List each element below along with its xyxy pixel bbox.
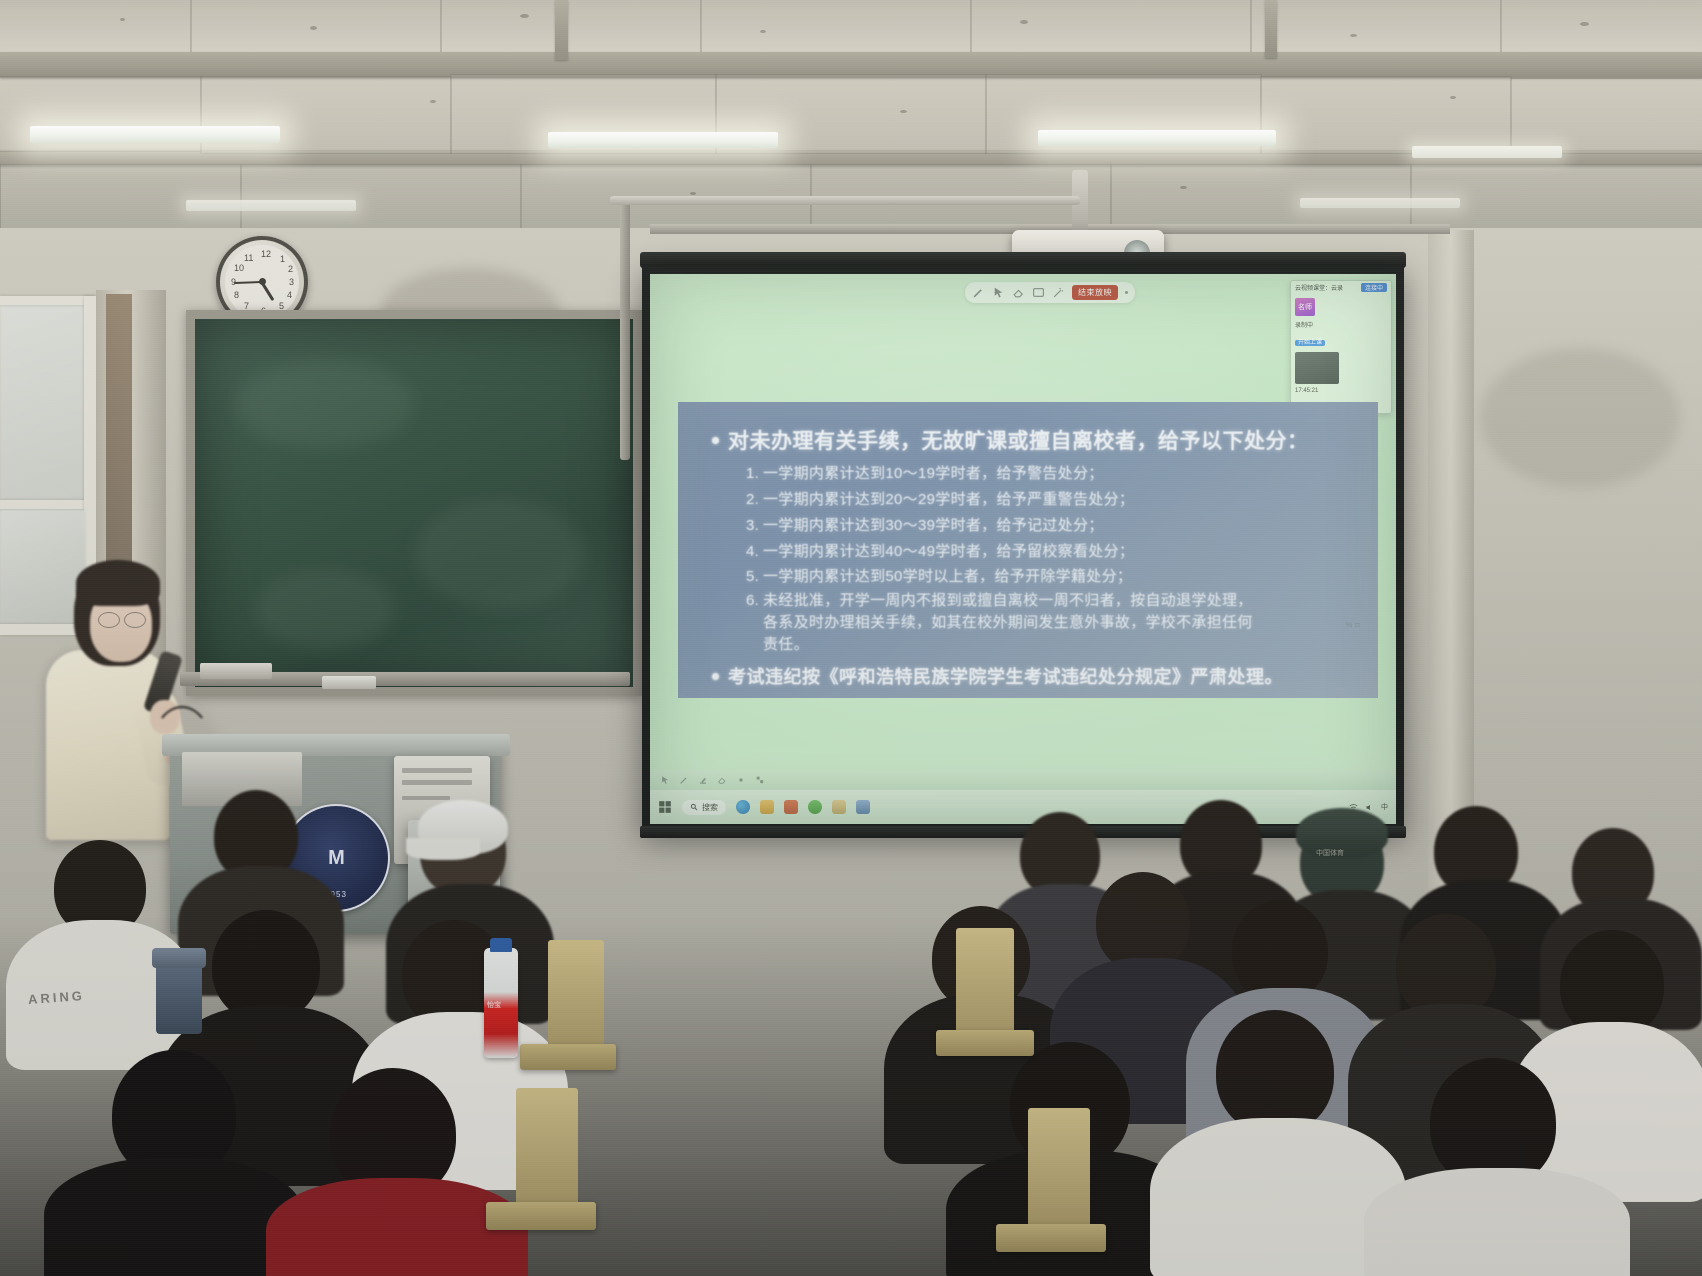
search-icon <box>690 803 698 811</box>
panel-tiles: 名师 <box>1291 294 1391 320</box>
bottle-cap <box>490 938 512 952</box>
clock-minute-hand <box>234 281 262 284</box>
lecture-hall-photo: 12 3 6 9 1 2 4 5 7 8 10 11 <box>0 0 1702 1276</box>
chair-back <box>548 940 604 1058</box>
list-item-continuation: 责任。 <box>763 634 1356 656</box>
eyeglasses-icon <box>98 612 120 628</box>
end-show-button[interactable]: 结束放映 <box>1072 285 1118 300</box>
panel-titlebar: 云视频课堂：云录 连接中 <box>1291 281 1391 294</box>
bullet-dot-icon <box>712 673 719 680</box>
explorer-icon[interactable] <box>760 800 774 814</box>
chair-seat <box>486 1202 596 1230</box>
folder-icon[interactable] <box>832 800 846 814</box>
list-index: 4. <box>746 539 763 565</box>
more-options-icon[interactable] <box>1125 291 1128 294</box>
list-index: 5. <box>746 564 763 590</box>
jacket-logo-text: 中国体育 <box>1316 848 1344 858</box>
student-shoulders <box>1364 1168 1630 1276</box>
ime-icon[interactable]: 中 <box>1381 802 1388 812</box>
bullet-dot-icon <box>712 437 719 444</box>
slide-bullet-text: 对未办理有关手续，无故旷课或擅自离校者，给予以下处分： <box>728 428 1309 455</box>
start-class-badge[interactable]: 开始上课 <box>1295 340 1325 346</box>
list-text: 一学期内累计达到20～29学时者，给予严重警告处分； <box>763 491 1134 508</box>
list-item: 5.一学期内累计达到50学时以上者，给予开除学籍处分； <box>746 564 1356 590</box>
thermos-lid <box>152 948 206 968</box>
chair-back <box>1028 1108 1090 1242</box>
list-index: 2. <box>746 487 763 513</box>
list-item: 6.未经批准，开学一周内不报到或擅自离校一周不归者，按自动退学处理， <box>746 590 1356 612</box>
powerpoint-icon[interactable] <box>784 800 798 814</box>
window-glass <box>0 510 86 622</box>
volume-icon[interactable] <box>1365 803 1374 812</box>
thermos-cup <box>156 962 202 1034</box>
list-text: 未经批准，开学一周内不报到或擅自离校一周不归者，按自动退学处理， <box>763 592 1253 609</box>
list-item: 3.一学期内累计达到30～39学时者，给予记过处分； <box>746 513 1356 539</box>
magic-icon[interactable] <box>1052 286 1065 299</box>
eyeglasses-icon <box>124 612 146 628</box>
eraser-icon[interactable] <box>1012 286 1025 299</box>
taskbar-search[interactable]: 搜索 <box>682 800 726 815</box>
cursor-icon[interactable] <box>660 775 670 785</box>
panel-status-label: 录制中 <box>1291 320 1391 331</box>
panel-status-pill: 连接中 <box>1361 283 1387 292</box>
bottle-label-text: 怡宝 <box>487 1000 501 1010</box>
pen-icon[interactable] <box>679 775 689 785</box>
student-head <box>1216 1010 1334 1134</box>
list-item: 1.一学期内累计达到10～19学时者，给予警告处分； <box>746 461 1356 487</box>
emblem-letter: M <box>328 848 344 868</box>
list-text: 一学期内累计达到10～19学时者，给予警告处分； <box>763 465 1104 482</box>
shapes-icon[interactable] <box>755 775 765 785</box>
screen-corner-text: % ㅁ <box>1346 620 1361 630</box>
ceiling-cable-conduit <box>620 200 630 460</box>
list-item-continuation: 各系及时办理相关手续，如其在校外期间发生意外事故，学校不承担任何 <box>763 612 1356 634</box>
list-text: 一学期内累计达到40～49学时者，给予留校察看处分； <box>763 543 1134 560</box>
student-head <box>1096 872 1190 972</box>
slide-edit-toolbar[interactable] <box>650 770 1396 790</box>
eraser <box>322 676 376 689</box>
camera-preview-tile[interactable] <box>1295 352 1339 384</box>
list-item: 4.一学期内累计达到40～49学时者，给予留校察看处分； <box>746 539 1356 565</box>
tile-caption: 名师 <box>1298 302 1312 312</box>
class-recorder-panel[interactable]: 云视频课堂：云录 连接中 名师 录制中 开始上课 17:45:21 <box>1290 280 1392 414</box>
media-icon[interactable] <box>856 800 870 814</box>
windows-start-icon[interactable] <box>658 800 672 814</box>
ceiling-light <box>548 132 778 148</box>
list-text: 一学期内累计达到30～39学时者，给予记过处分； <box>763 517 1104 534</box>
chair-seat <box>520 1044 616 1070</box>
list-item: 2.一学期内累计达到20～29学时者，给予严重警告处分； <box>746 487 1356 513</box>
panel-title: 云视频课堂：云录 <box>1295 283 1343 292</box>
windows-taskbar[interactable]: 搜索 中 <box>650 790 1396 824</box>
ceiling-light <box>186 200 356 211</box>
projection-screen: 结束放映 云视频课堂：云录 连接中 名师 录制中 开始上课 <box>650 274 1396 824</box>
ceiling-light <box>30 126 280 143</box>
chair-back <box>516 1088 578 1218</box>
highlighter-icon[interactable] <box>698 775 708 785</box>
eraser-icon[interactable] <box>717 775 727 785</box>
frame-icon[interactable] <box>1032 286 1045 299</box>
search-placeholder: 搜索 <box>702 802 718 813</box>
pen-icon[interactable] <box>972 286 985 299</box>
chair-seat <box>936 1030 1034 1056</box>
teacher-tile[interactable]: 名师 <box>1295 298 1315 316</box>
ceiling-cable-conduit <box>610 196 1080 205</box>
cap-brim <box>406 838 480 860</box>
list-index: 1. <box>746 461 763 487</box>
laser-icon[interactable] <box>736 775 746 785</box>
projection-screen-frame: 结束放映 云视频课堂：云录 连接中 名师 录制中 开始上课 <box>642 266 1404 832</box>
student-shoulders <box>44 1158 304 1276</box>
list-index: 6. <box>746 590 763 612</box>
ceiling-light <box>1412 146 1562 158</box>
slide-final-text: 考试违纪按《呼和浩特民族学院学生考试违纪处分规定》严肃处理。 <box>728 666 1283 689</box>
ceiling-light <box>1300 198 1460 208</box>
student-head <box>1232 900 1328 1002</box>
list-index: 3. <box>746 513 763 539</box>
window-frame <box>0 500 96 509</box>
presentation-toolbar[interactable]: 结束放映 <box>965 282 1135 303</box>
list-text: 一学期内累计达到50学时以上者，给予开除学籍处分； <box>763 568 1132 585</box>
wechat-icon[interactable] <box>808 800 822 814</box>
slide-content-panel: 对未办理有关手续，无故旷课或擅自离校者，给予以下处分： 1.一学期内累计达到10… <box>678 402 1378 698</box>
chalkboard <box>186 310 642 696</box>
eraser <box>200 663 272 679</box>
panel-timer: 17:45:21 <box>1291 388 1391 396</box>
chair-seat <box>996 1224 1106 1252</box>
presenter-hair-fringe <box>76 560 160 606</box>
slide-numbered-list: 1.一学期内累计达到10～19学时者，给予警告处分； 2.一学期内累计达到20～… <box>746 461 1356 655</box>
ceiling-light <box>1038 130 1276 146</box>
edge-icon[interactable] <box>736 800 750 814</box>
window-frame <box>0 296 96 305</box>
slide-bullet-final: 考试违纪按《呼和浩特民族学院学生考试违纪处分规定》严肃处理。 <box>712 666 1356 689</box>
pointer-icon[interactable] <box>992 286 1005 299</box>
slide-bullet-main: 对未办理有关手续，无故旷课或擅自离校者，给予以下处分： <box>712 428 1356 455</box>
